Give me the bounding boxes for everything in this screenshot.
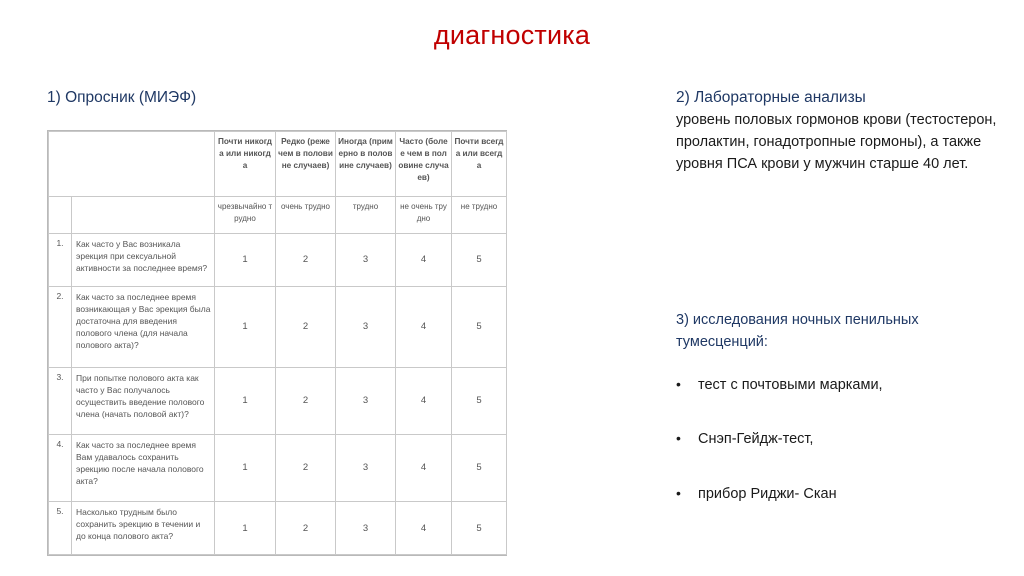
right-column: 2) Лабораторные анализы уровень половых … <box>676 88 1006 175</box>
header-diff-3: трудно <box>336 197 396 234</box>
table-row: 3. При попытке полового акта как часто у… <box>49 367 507 434</box>
row-question: Насколько трудным было сохранить эрекцию… <box>72 502 215 555</box>
row-score-3[interactable]: 3 <box>336 233 396 286</box>
header-diff-5: не трудно <box>452 197 507 234</box>
row-score-1[interactable]: 1 <box>215 367 276 434</box>
header-diff-4: не очень трудно <box>396 197 452 234</box>
table-header-difficulty-row: чрезвычайно трудно очень трудно трудно н… <box>49 197 507 234</box>
list-item-label: прибор Риджи- Скан <box>698 484 837 504</box>
row-score-4[interactable]: 4 <box>396 434 452 501</box>
page-title: диагностика <box>0 20 1024 51</box>
row-score-2[interactable]: 2 <box>276 233 336 286</box>
bullet-icon: • <box>676 429 698 449</box>
row-score-3[interactable]: 3 <box>336 502 396 555</box>
row-number: 4. <box>49 434 72 501</box>
row-score-4[interactable]: 4 <box>396 233 452 286</box>
list-item: • Снэп-Гейдж-тест, <box>676 429 1006 449</box>
row-score-5[interactable]: 5 <box>452 286 507 367</box>
row-score-2[interactable]: 2 <box>276 367 336 434</box>
row-score-4[interactable]: 4 <box>396 367 452 434</box>
bullet-icon: • <box>676 375 698 395</box>
table-row: 5. Насколько трудным было сохранить эрек… <box>49 502 507 555</box>
header-freq-4: Часто (более чем в половине случаев) <box>396 132 452 197</box>
header-num-cell <box>49 197 72 234</box>
header-question-cell <box>72 197 215 234</box>
lab-tests-heading: 2) Лабораторные анализы <box>676 88 1006 108</box>
table-row: 1. Как часто у Вас возникала эрекция при… <box>49 233 507 286</box>
row-question: Как часто у Вас возникала эрекция при се… <box>72 233 215 286</box>
header-freq-3: Иногда (примерно в половине случаев) <box>336 132 396 197</box>
table-row: 2. Как часто за последнее время возникаю… <box>49 286 507 367</box>
row-score-4[interactable]: 4 <box>396 286 452 367</box>
nocturnal-tumescence-heading: 3) исследования ночных пенильных тумесце… <box>676 310 1006 354</box>
row-question: Как часто за последнее время возникающая… <box>72 286 215 367</box>
list-item-label: тест с почтовыми марками, <box>698 375 883 395</box>
row-question: Как часто за последнее время Вам удавало… <box>72 434 215 501</box>
lab-tests-text: уровень половых гормонов крови (тестосте… <box>676 109 1006 175</box>
table-row: 4. Как часто за последнее время Вам удав… <box>49 434 507 501</box>
row-score-2[interactable]: 2 <box>276 502 336 555</box>
row-score-5[interactable]: 5 <box>452 367 507 434</box>
header-diff-1: чрезвычайно трудно <box>215 197 276 234</box>
mief-questionnaire-table: Почти никогда или никогда Редко (реже че… <box>47 130 507 556</box>
questionnaire-heading: 1) Опросник (МИЭФ) <box>47 88 517 108</box>
header-freq-1: Почти никогда или никогда <box>215 132 276 197</box>
row-score-3[interactable]: 3 <box>336 286 396 367</box>
row-number: 1. <box>49 233 72 286</box>
header-corner-cell <box>49 132 215 197</box>
row-score-1[interactable]: 1 <box>215 434 276 501</box>
nocturnal-tests-list: • тест с почтовыми марками, • Снэп-Гейдж… <box>676 375 1006 538</box>
row-score-2[interactable]: 2 <box>276 286 336 367</box>
row-question: При попытке полового акта как часто у Ва… <box>72 367 215 434</box>
row-score-3[interactable]: 3 <box>336 434 396 501</box>
header-diff-2: очень трудно <box>276 197 336 234</box>
list-item: • тест с почтовыми марками, <box>676 375 1006 395</box>
list-item: • прибор Риджи- Скан <box>676 484 1006 504</box>
row-score-1[interactable]: 1 <box>215 233 276 286</box>
row-score-1[interactable]: 1 <box>215 286 276 367</box>
row-number: 3. <box>49 367 72 434</box>
row-score-5[interactable]: 5 <box>452 233 507 286</box>
left-column: 1) Опросник (МИЭФ) <box>47 88 517 108</box>
row-score-3[interactable]: 3 <box>336 367 396 434</box>
header-freq-5: Почти всегда или всегда <box>452 132 507 197</box>
row-number: 2. <box>49 286 72 367</box>
header-freq-2: Редко (реже чем в половине случаев) <box>276 132 336 197</box>
row-score-2[interactable]: 2 <box>276 434 336 501</box>
list-item-label: Снэп-Гейдж-тест, <box>698 429 813 449</box>
table-header-frequency-row: Почти никогда или никогда Редко (реже че… <box>49 132 507 197</box>
bullet-icon: • <box>676 484 698 504</box>
row-score-5[interactable]: 5 <box>452 434 507 501</box>
row-score-5[interactable]: 5 <box>452 502 507 555</box>
row-score-4[interactable]: 4 <box>396 502 452 555</box>
row-number: 5. <box>49 502 72 555</box>
row-score-1[interactable]: 1 <box>215 502 276 555</box>
